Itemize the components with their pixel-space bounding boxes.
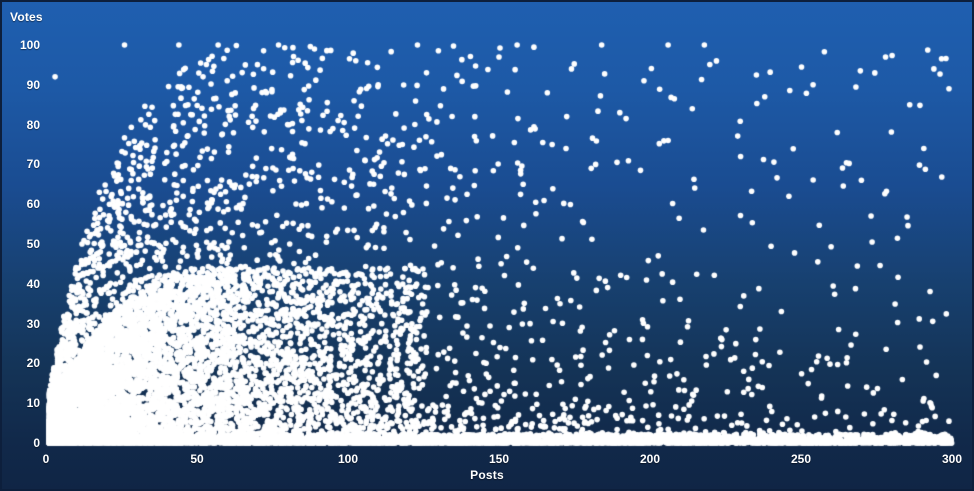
x-tick-label: 100 bbox=[318, 452, 378, 466]
scatter-chart: Votes Posts 0102030405060708090100 05010… bbox=[0, 0, 974, 491]
x-tick-label: 0 bbox=[16, 452, 76, 466]
y-tick-label: 0 bbox=[6, 436, 40, 450]
x-tick-label: 250 bbox=[771, 452, 831, 466]
y-tick-label: 100 bbox=[6, 38, 40, 52]
y-axis-title: Votes bbox=[10, 10, 43, 24]
y-tick-label: 40 bbox=[6, 277, 40, 291]
x-tick-label: 200 bbox=[620, 452, 680, 466]
y-tick-label: 80 bbox=[6, 118, 40, 132]
y-tick-label: 60 bbox=[6, 197, 40, 211]
y-tick-label: 30 bbox=[6, 317, 40, 331]
y-tick-label: 70 bbox=[6, 157, 40, 171]
x-axis-title: Posts bbox=[2, 468, 972, 482]
x-tick-label: 150 bbox=[469, 452, 529, 466]
x-tick-label: 50 bbox=[167, 452, 227, 466]
y-tick-label: 50 bbox=[6, 237, 40, 251]
y-tick-label: 10 bbox=[6, 396, 40, 410]
x-tick-label: 300 bbox=[922, 452, 974, 466]
y-tick-label: 90 bbox=[6, 78, 40, 92]
scatter-plot-canvas bbox=[2, 2, 974, 491]
y-tick-label: 20 bbox=[6, 356, 40, 370]
